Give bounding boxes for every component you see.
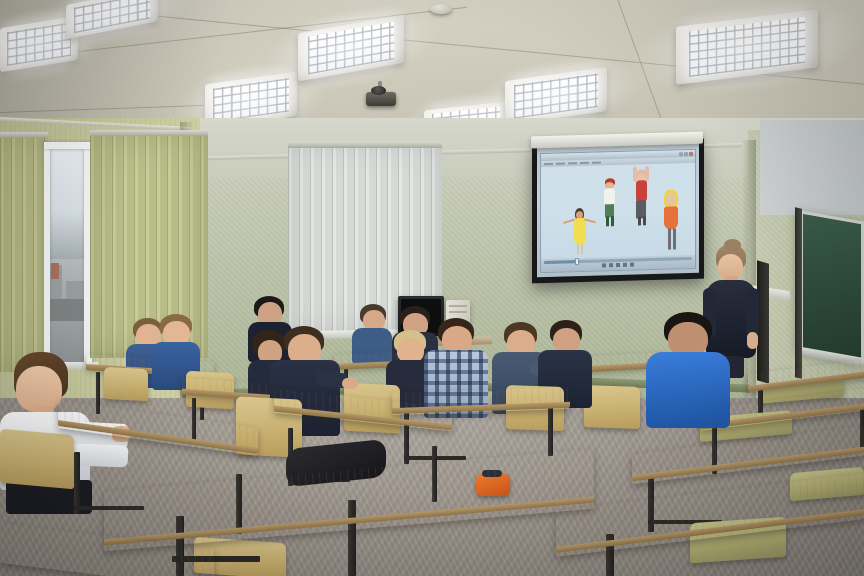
seek-handle[interactable] (575, 258, 579, 265)
cartoon-adult-red-top (632, 166, 650, 225)
media-player-window[interactable] (540, 149, 696, 273)
menu-item[interactable] (568, 162, 577, 164)
menu-item[interactable] (556, 162, 565, 164)
close-icon[interactable] (689, 151, 693, 155)
minimize-icon[interactable] (679, 152, 683, 156)
previous-icon[interactable] (602, 263, 606, 267)
play-icon[interactable] (616, 263, 620, 267)
ceiling-projector (362, 86, 400, 112)
window-frame-left (44, 142, 50, 366)
menu-item[interactable] (544, 163, 553, 165)
desk-leg (548, 404, 553, 456)
maximize-icon[interactable] (684, 152, 688, 156)
cartoon-child-red-cap (601, 178, 618, 226)
menu-item[interactable] (580, 162, 589, 164)
right-wall-upper (760, 120, 864, 215)
chalkboard (800, 210, 864, 361)
cartoon-girl-orange-dress (661, 189, 681, 250)
rewind-icon[interactable] (609, 263, 613, 267)
chair-front-left[interactable] (0, 429, 74, 489)
projection-screen-surface (537, 143, 699, 278)
smoke-detector (430, 4, 452, 14)
teacher-hand-right (747, 332, 758, 349)
chalkboard-side-edge (795, 207, 802, 378)
chair-center-4[interactable] (584, 385, 640, 429)
video-canvas (541, 163, 695, 259)
menu-item[interactable] (592, 161, 601, 163)
window-frame-top (44, 142, 92, 149)
student-boy-bright-blue (646, 312, 730, 428)
teacher-arm-right (746, 288, 759, 336)
desk-leg (74, 452, 80, 514)
projection-screen (532, 139, 704, 284)
transport-buttons[interactable] (602, 263, 634, 268)
teacher-bun (724, 239, 741, 251)
blinds-olive-left[interactable] (0, 132, 48, 372)
classroom-photo (0, 0, 864, 576)
next-icon[interactable] (630, 263, 634, 267)
cartoon-girl-yellow-dress (563, 208, 597, 255)
forward-icon[interactable] (623, 263, 627, 267)
